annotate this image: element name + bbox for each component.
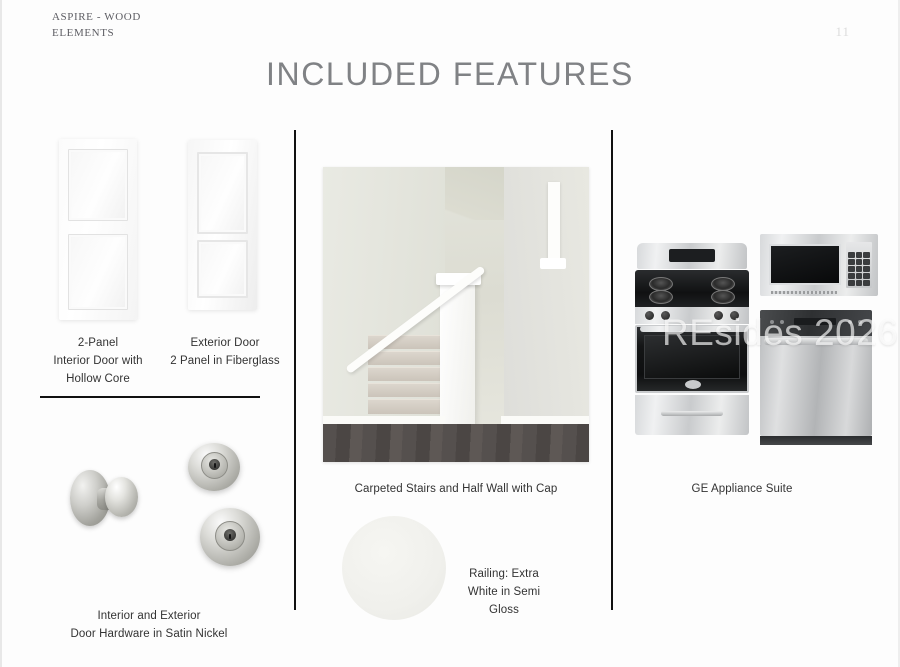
keypad-key bbox=[848, 280, 855, 286]
keypad-key bbox=[848, 273, 855, 279]
carpeted-stairs-photo bbox=[323, 167, 589, 462]
keypad-key bbox=[863, 280, 870, 286]
caption-line: Interior and Exterior bbox=[44, 608, 254, 626]
dishwasher-button bbox=[858, 320, 862, 324]
keypad-key bbox=[863, 259, 870, 265]
presentation-page: ASPIRE - WOOD ELEMENTS 11 INCLUDED FEATU… bbox=[0, 0, 900, 667]
keypad-key bbox=[863, 273, 870, 279]
keypad-key bbox=[863, 266, 870, 272]
caption-line: White in Semi bbox=[454, 584, 554, 602]
keypad-key bbox=[856, 273, 863, 279]
oven-window bbox=[644, 335, 740, 379]
range-storage-drawer bbox=[635, 395, 749, 435]
oven-door-handle bbox=[640, 326, 748, 332]
burner-knob bbox=[661, 311, 670, 320]
burner-knob bbox=[714, 311, 723, 320]
page-number: 11 bbox=[835, 24, 850, 40]
extra-white-paint-swatch bbox=[342, 516, 446, 620]
range-control-panel bbox=[635, 307, 749, 324]
entry-knob-keyhole bbox=[224, 529, 236, 541]
dishwasher-display bbox=[794, 318, 836, 325]
dishwasher-toe-kick bbox=[760, 436, 872, 445]
stairs-caption: Carpeted Stairs and Half Wall with Cap bbox=[322, 481, 590, 499]
keypad-key bbox=[856, 266, 863, 272]
keypad-key bbox=[848, 266, 855, 272]
passage-knob-ball bbox=[105, 477, 138, 517]
microwave-keypad bbox=[848, 252, 870, 286]
keypad-key bbox=[863, 252, 870, 258]
burner bbox=[649, 290, 673, 304]
handrail-post bbox=[548, 182, 560, 265]
keypad-key bbox=[856, 280, 863, 286]
burner bbox=[711, 277, 735, 291]
drawer-handle bbox=[661, 411, 723, 416]
caption-line: Door Hardware in Satin Nickel bbox=[44, 626, 254, 644]
dishwasher-control-panel bbox=[760, 310, 872, 336]
over-the-range-microwave-image bbox=[760, 234, 878, 296]
dishwasher-image bbox=[760, 310, 872, 445]
keypad-key bbox=[848, 252, 855, 258]
caption-line: Gloss bbox=[454, 602, 554, 620]
keypad-key bbox=[856, 259, 863, 265]
ge-logo-badge bbox=[685, 380, 701, 389]
microwave-window bbox=[769, 244, 841, 285]
range-display bbox=[669, 249, 715, 262]
column-divider-right bbox=[611, 130, 613, 610]
right-wall bbox=[504, 167, 589, 421]
wood-floor bbox=[323, 424, 589, 462]
keypad-key bbox=[848, 259, 855, 265]
deadbolt-keyhole bbox=[209, 459, 220, 470]
hardware-caption: Interior and Exterior Door Hardware in S… bbox=[44, 608, 254, 644]
burner-knob bbox=[730, 311, 739, 320]
keypad-key bbox=[856, 252, 863, 258]
satin-nickel-door-hardware-image bbox=[2, 0, 302, 667]
dishwasher-button bbox=[780, 320, 784, 324]
range-oven-door bbox=[635, 325, 749, 393]
dishwasher-handle bbox=[764, 338, 868, 345]
dishwasher-button bbox=[848, 320, 852, 324]
dishwasher-button bbox=[770, 320, 774, 324]
microwave-vent bbox=[771, 291, 837, 294]
burner-knob bbox=[645, 311, 654, 320]
caption-line: Railing: Extra bbox=[454, 566, 554, 584]
dishwasher-door bbox=[760, 336, 872, 436]
range-cooktop bbox=[635, 270, 749, 308]
paint-caption: Railing: Extra White in Semi Gloss bbox=[454, 566, 554, 619]
burner bbox=[649, 277, 673, 291]
appliances-caption: GE Appliance Suite bbox=[642, 481, 842, 499]
burner bbox=[711, 290, 735, 304]
handrail-post-cap bbox=[540, 258, 567, 268]
gas-range-image bbox=[635, 243, 749, 435]
